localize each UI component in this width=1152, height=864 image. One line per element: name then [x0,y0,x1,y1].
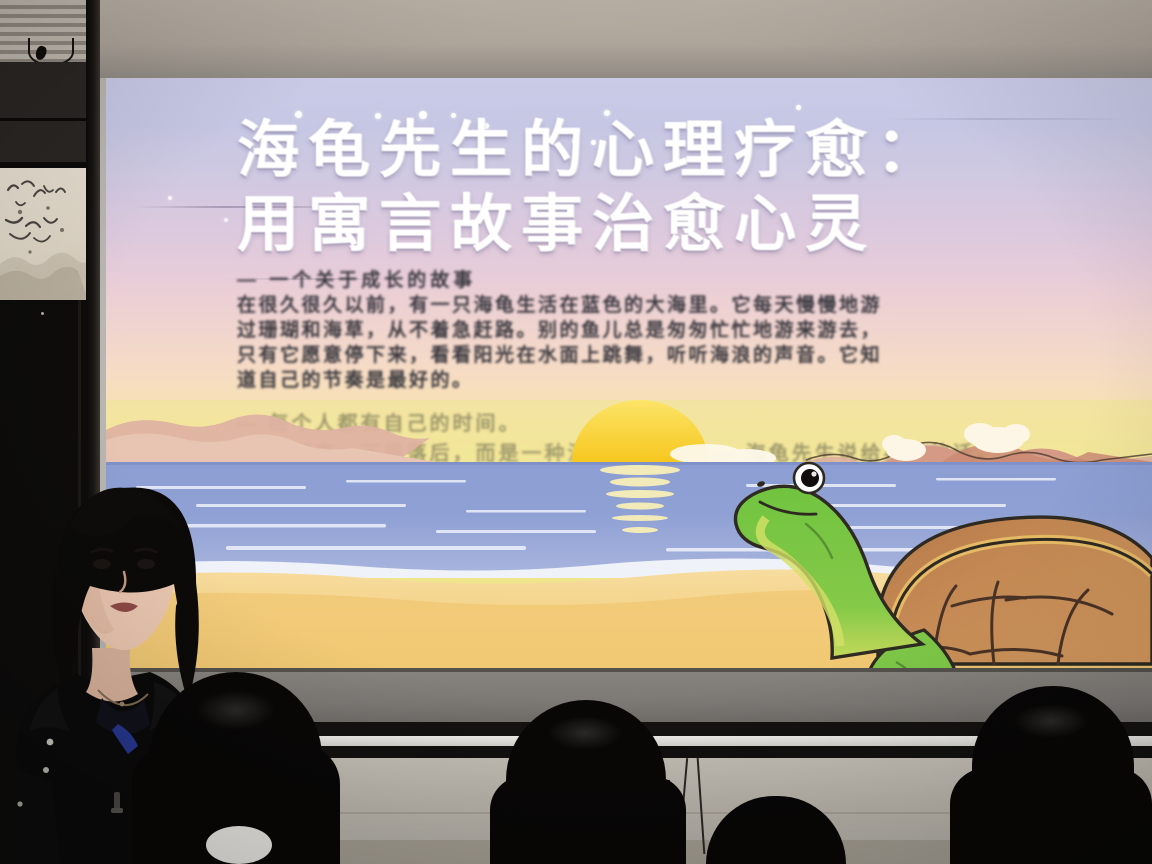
framed-ink-artwork [0,168,88,300]
hair-highlight [548,716,622,750]
audience-shoulders-right [950,768,1152,864]
slide-body-line: 道自己的节奏是最好的。 [237,368,1152,393]
slide-title: 海龟先生的心理疗愈： 用寓言故事治愈心灵 [237,114,1152,262]
slide-body-line: 在很久很久以前，有一只海龟生活在蓝色的大海里。它每天慢慢地游 [237,293,1152,318]
star-dot [168,196,172,200]
audience-shoulders-center [490,776,686,864]
ink-painting-strokes [0,168,88,300]
slide-body-line: 只有它愿意停下来，看看阳光在水面上跳舞，听听海浪的声音。它知 [237,343,1152,368]
dark-window-pane [0,62,88,162]
slide-body-line: 过珊瑚和海草，从不着急赶路。别的鱼儿总是匆匆忙忙地游来游去， [237,318,1152,343]
turtle-beach-sunset-drawing [106,400,1152,670]
star-dot [224,218,228,222]
ceiling-band [96,0,1152,80]
slide-illustration [106,400,1152,670]
slide-title-line-2: 用寓言故事治愈心灵 [237,188,1152,262]
audience-collar-left [206,826,272,864]
photo-scene: 海龟先生的心理疗愈： 用寓言故事治愈心灵 — 一个关于成长的故事 在很久很久以前… [0,0,1152,864]
slide-title-line-1: 海龟先生的心理疗愈： [237,114,1152,188]
wall-speck [41,312,44,315]
star-dot [796,105,801,110]
window-mullion [0,118,88,121]
hair-highlight [196,690,276,730]
hair-highlight [1014,704,1088,738]
projected-slide: 海龟先生的心理疗愈： 用寓言故事治愈心灵 — 一个关于成长的故事 在很久很久以前… [106,78,1152,670]
slide-body-line: — 一个关于成长的故事 [237,268,1152,293]
